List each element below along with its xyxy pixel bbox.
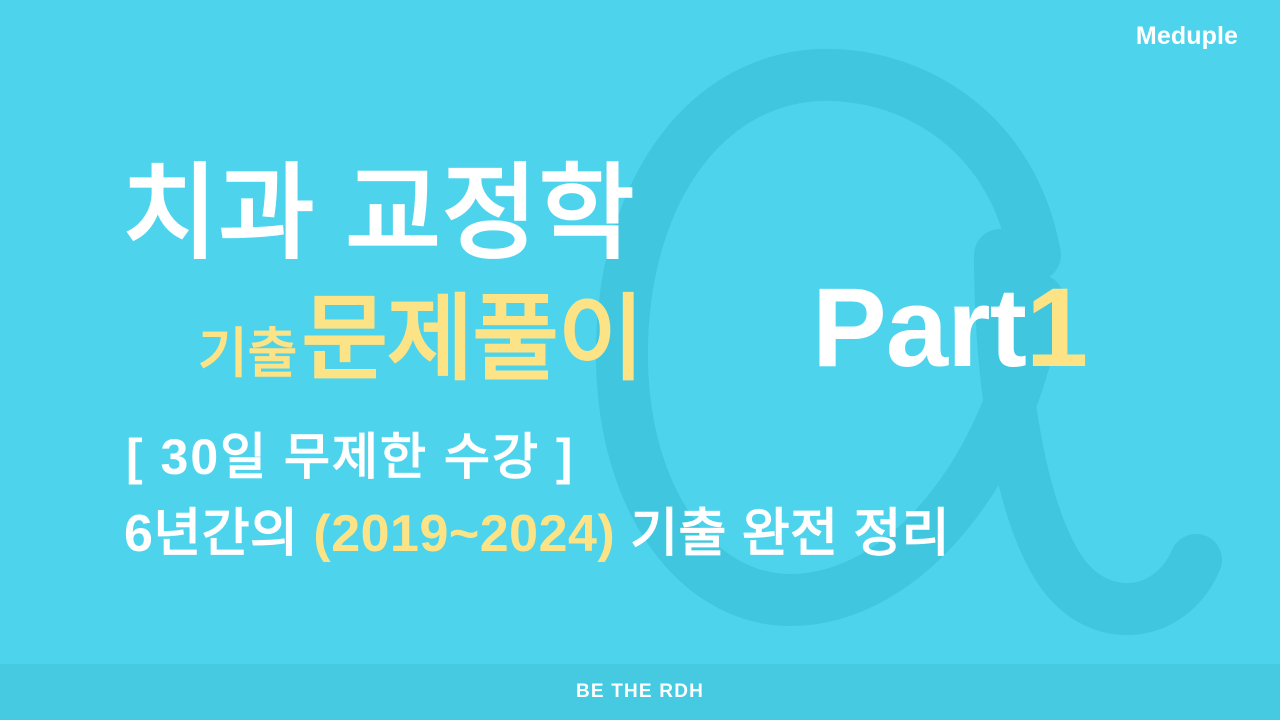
course-duration-note: [ 30일 무제한 수강 ] [126, 432, 574, 482]
coverage-suffix: 기출 완전 정리 [615, 505, 950, 563]
part-number: 1 [1026, 265, 1087, 390]
coverage-prefix: 6년간의 [124, 505, 313, 563]
hero-content: 치과 교정학 기출 문제풀이 Part1 [ 30일 무제한 수강 ] 6년간의… [0, 0, 1280, 664]
part-badge: Part1 [812, 272, 1087, 384]
part-label: Part [812, 265, 1026, 390]
page-title: 치과 교정학 [122, 162, 635, 266]
coverage-year-range: (2019~2024) [313, 505, 615, 563]
footer-tagline: BE THE RDH [576, 681, 704, 703]
subtitle-prefix: 기출 [198, 327, 297, 386]
slide-canvas: Meduple 치과 교정학 기출 문제풀이 Part1 [ 30일 무제한 수… [0, 0, 1280, 720]
footer-bar: BE THE RDH [0, 664, 1280, 720]
subtitle-group: 기출 문제풀이 [198, 292, 643, 386]
subtitle-main: 문제풀이 [301, 292, 643, 386]
coverage-note: 6년간의 (2019~2024) 기출 완전 정리 [124, 508, 950, 560]
